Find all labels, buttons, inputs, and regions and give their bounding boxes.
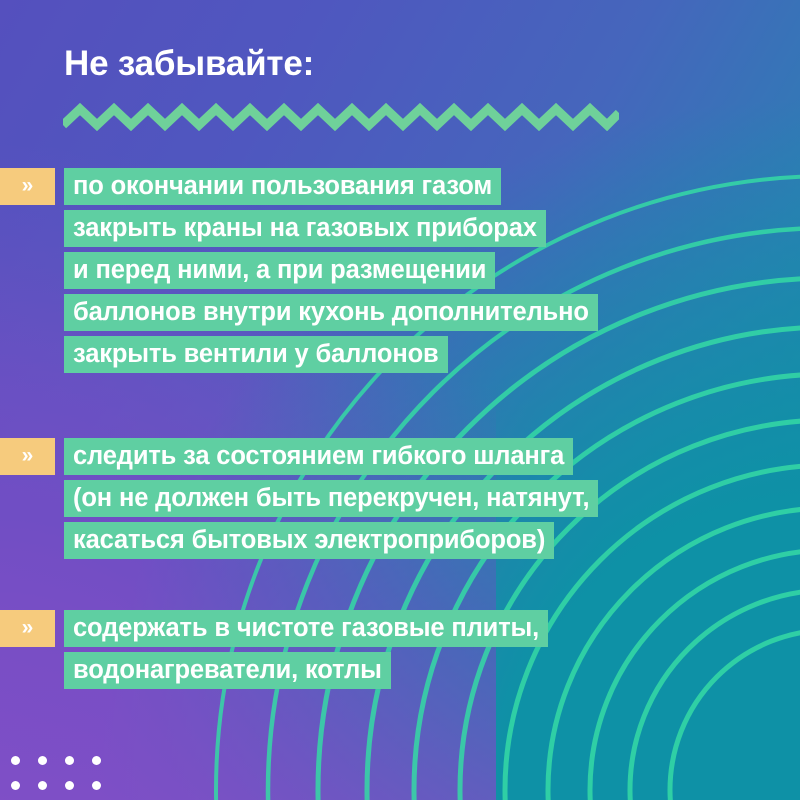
chevron-double-right-icon: »: [22, 445, 34, 466]
text-line: закрыть краны на газовых приборах: [64, 210, 546, 247]
dot: [11, 781, 20, 790]
bullet-badge-2: »: [0, 438, 55, 475]
text-line: по окончании пользования газом: [64, 168, 501, 205]
text-line: закрыть вентили у баллонов: [64, 336, 448, 373]
dot: [92, 781, 101, 790]
text-line: водонагреватели, котлы: [64, 652, 391, 689]
bullet-badge-1: »: [0, 168, 55, 205]
bullet-text-block-1: по окончании пользования газом закрыть к…: [64, 168, 598, 378]
dot: [38, 756, 47, 765]
zigzag-divider: [63, 103, 619, 131]
text-line: следить за состоянием гибкого шланга: [64, 438, 573, 475]
dot-grid-decoration: [11, 756, 111, 796]
chevron-double-right-icon: »: [22, 617, 34, 638]
text-line: баллонов внутри кухонь дополнительно: [64, 294, 598, 331]
text-line: (он не должен быть перекручен, натянут,: [64, 480, 598, 517]
bullet-badge-3: »: [0, 610, 55, 647]
bullet-text-block-3: содержать в чистоте газовые плиты, водон…: [64, 610, 548, 694]
dot: [38, 781, 47, 790]
text-line: содержать в чистоте газовые плиты,: [64, 610, 548, 647]
dot: [92, 756, 101, 765]
dot: [11, 756, 20, 765]
dot: [65, 756, 74, 765]
dot: [65, 781, 74, 790]
text-line: касаться бытовых электроприборов): [64, 522, 554, 559]
poster-canvas: Не забывайте: » по окончании пользования…: [0, 0, 800, 800]
bullet-text-block-2: следить за состоянием гибкого шланга (он…: [64, 438, 598, 564]
text-line: и перед ними, а при размещении: [64, 252, 495, 289]
chevron-double-right-icon: »: [22, 175, 34, 196]
page-title: Не забывайте:: [64, 44, 314, 84]
